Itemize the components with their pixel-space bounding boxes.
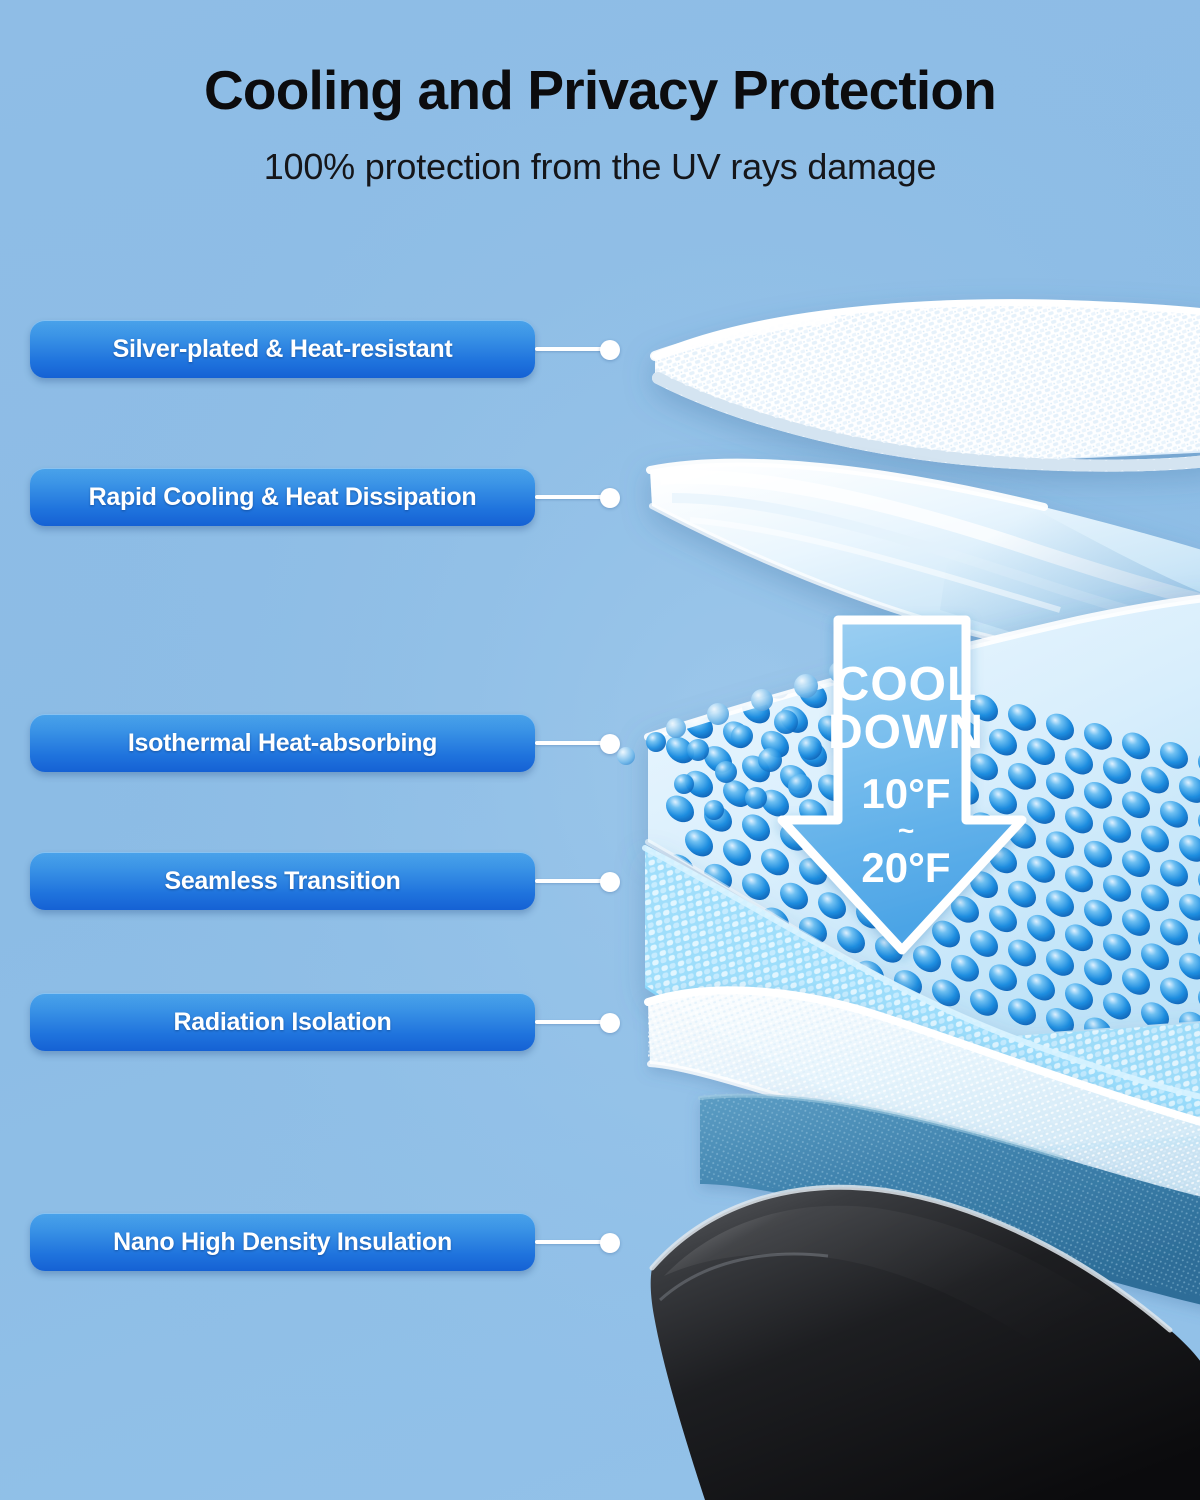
feature-pill-label: Nano High Density Insulation: [113, 1228, 452, 1257]
cool-down-line5: 20°F: [861, 844, 950, 891]
connector-line: [535, 495, 607, 499]
feature-label-row: Isothermal Heat-absorbing: [30, 714, 535, 772]
feature-label-row: Silver-plated & Heat-resistant: [30, 320, 535, 378]
cool-down-line3: 10°F: [861, 770, 950, 817]
feature-pill-label: Isothermal Heat-absorbing: [128, 729, 437, 758]
connector-dot: [600, 1013, 620, 1033]
feature-pill[interactable]: Radiation Isolation: [30, 993, 535, 1051]
feature-pill[interactable]: Silver-plated & Heat-resistant: [30, 320, 535, 378]
connector-line: [535, 879, 607, 883]
connector-leader: [535, 497, 635, 499]
feature-label-list: Silver-plated & Heat-resistantRapid Cool…: [0, 0, 660, 1500]
connector-line: [535, 1240, 607, 1244]
feature-label-row: Rapid Cooling & Heat Dissipation: [30, 468, 535, 526]
feature-label-row: Seamless Transition: [30, 852, 535, 910]
cool-down-line2: DOWN: [828, 706, 984, 759]
feature-pill-label: Silver-plated & Heat-resistant: [113, 335, 453, 364]
connector-dot: [600, 1233, 620, 1253]
connector-leader: [535, 1242, 635, 1244]
cool-down-line4: ~: [898, 815, 914, 846]
feature-label-row: Radiation Isolation: [30, 993, 535, 1051]
connector-dot: [600, 734, 620, 754]
feature-pill[interactable]: Rapid Cooling & Heat Dissipation: [30, 468, 535, 526]
connector-line: [535, 347, 607, 351]
feature-pill-label: Radiation Isolation: [174, 1008, 392, 1037]
connector-leader: [535, 349, 635, 351]
connector-line: [535, 741, 607, 745]
feature-pill[interactable]: Seamless Transition: [30, 852, 535, 910]
connector-leader: [535, 743, 635, 745]
feature-pill[interactable]: Nano High Density Insulation: [30, 1213, 535, 1271]
connector-line: [535, 1020, 607, 1024]
infographic-canvas: COOL DOWN 10°F ~ 20°F Cooling and Privac…: [0, 0, 1200, 1500]
connector-dot: [600, 488, 620, 508]
connector-leader: [535, 1022, 635, 1024]
feature-pill[interactable]: Isothermal Heat-absorbing: [30, 714, 535, 772]
cool-down-line1: COOL: [835, 658, 978, 711]
connector-leader: [535, 881, 635, 883]
connector-dot: [600, 340, 620, 360]
feature-pill-label: Seamless Transition: [164, 867, 400, 896]
feature-pill-label: Rapid Cooling & Heat Dissipation: [89, 483, 477, 512]
feature-label-row: Nano High Density Insulation: [30, 1213, 535, 1271]
connector-dot: [600, 872, 620, 892]
